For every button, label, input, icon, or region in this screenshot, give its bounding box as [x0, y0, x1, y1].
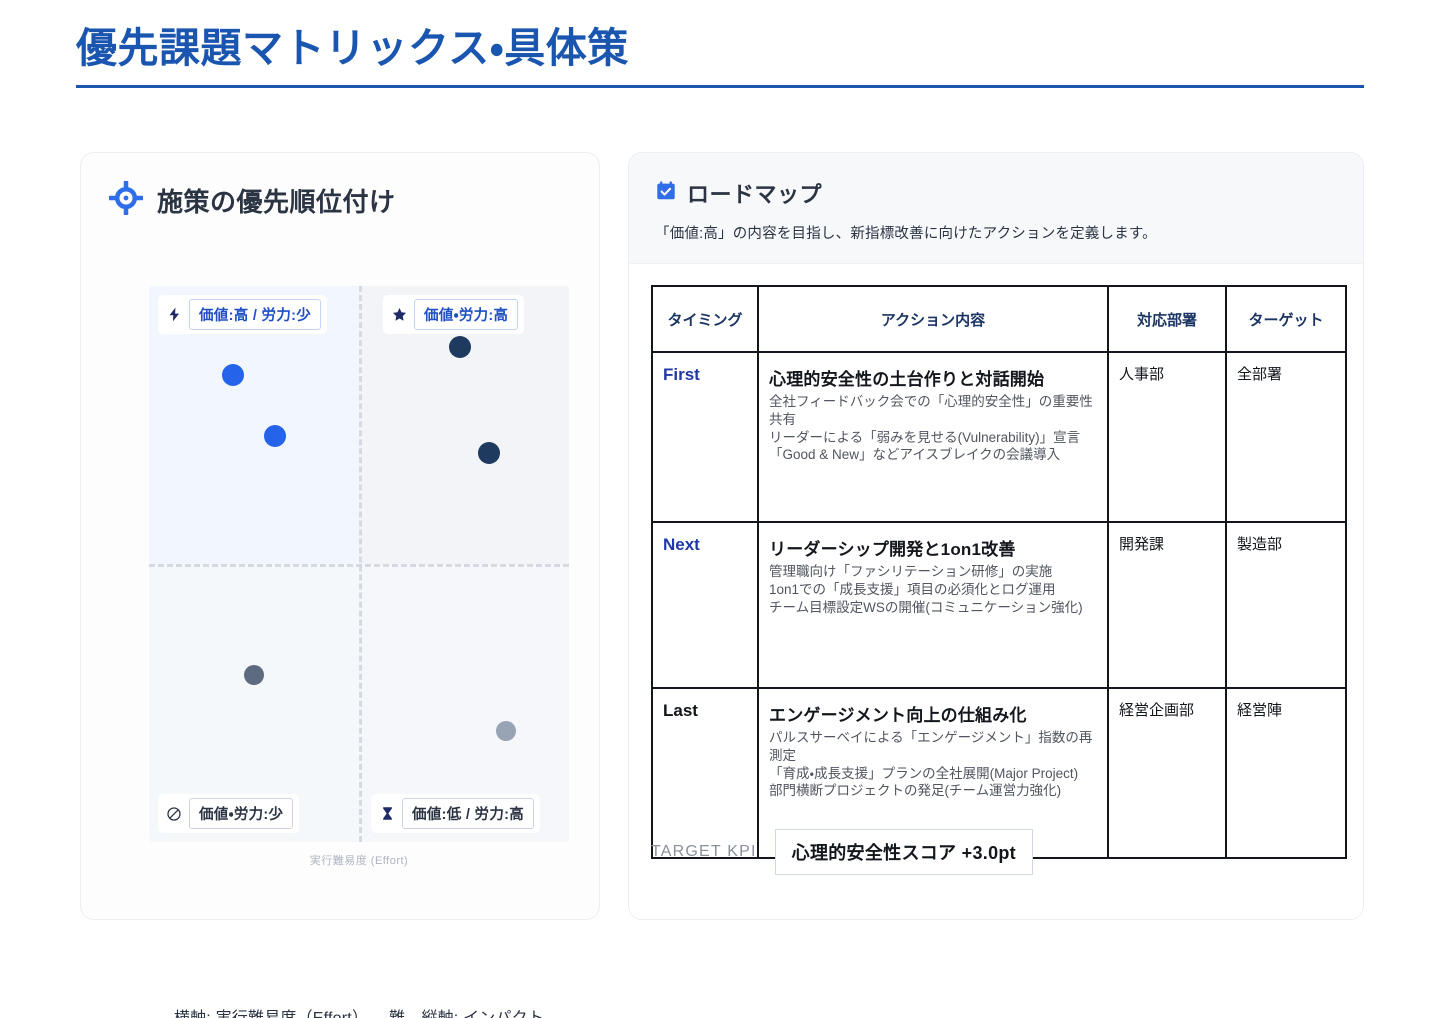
cell-department: 経営企画部: [1108, 688, 1226, 858]
action-item: 管理職向け「ファシリテーション研修」の実施: [769, 563, 1097, 581]
scatter-point: [222, 364, 244, 386]
table-row: First 心理的安全性の土台作りと対話開始 全社フィードバック会での「心理的安…: [652, 352, 1346, 522]
scatter-point: [478, 442, 500, 464]
target-crosshair-icon: [109, 181, 143, 220]
quadrant-label-text: 価値・労力:少: [189, 798, 293, 829]
action-title: 心理的安全性の土台作りと対話開始: [769, 365, 1097, 390]
action-items: パルスサーベイによる「エンゲージメント」指数の再測定 「育成・成長支援」プランの…: [769, 729, 1097, 800]
action-item: 全社フィードバック会での「心理的安全性」の重要性共有: [769, 393, 1097, 429]
table-header-row: タイミング アクション内容 対応部署 ターゲット: [652, 286, 1346, 352]
star-icon: [391, 307, 407, 323]
cell-target: 製造部: [1226, 522, 1346, 688]
roadmap-header: ロードマップ 「価値:高」の内容を目指し、新指標改善に向けたアクションを定義しま…: [629, 153, 1363, 264]
action-items: 管理職向け「ファシリテーション研修」の実施 1on1での「成長支援」項目の必須化…: [769, 563, 1097, 616]
column-header-target: ターゲット: [1226, 286, 1346, 352]
roadmap-subtitle: 「価値:高」の内容を目指し、新指標改善に向けたアクションを定義します。: [655, 222, 1337, 243]
cell-target: 経営陣: [1226, 688, 1346, 858]
action-item: パルスサーベイによる「エンゲージメント」指数の再測定: [769, 729, 1097, 765]
kpi-value-chip: 心理的安全性スコア +3.0pt: [775, 829, 1033, 875]
cell-department: 人事部: [1108, 352, 1226, 522]
column-header-department: 対応部署: [1108, 286, 1226, 352]
horizontal-divider: [149, 564, 569, 567]
scatter-point: [449, 336, 471, 358]
lightning-bolt-icon: [166, 307, 182, 323]
quadrant-label-bottom-right: 価値:低 / 労力:高: [371, 794, 540, 833]
table-row: Next リーダーシップ開発と1on1改善 管理職向け「ファシリテーション研修」…: [652, 522, 1346, 688]
action-item: 1on1での「成長支援」項目の必須化とログ運用: [769, 581, 1097, 599]
quadrant-label-top-left: 価値:高 / 労力:少: [158, 295, 327, 334]
action-item: 「育成・成長支援」プランの全社展開(Major Project): [769, 765, 1097, 783]
quadrant-label-bottom-left: 価値・労力:少: [158, 794, 299, 833]
roadmap-table: タイミング アクション内容 対応部署 ターゲット First 心理的安全性の土台…: [651, 285, 1347, 859]
cell-action: 心理的安全性の土台作りと対話開始 全社フィードバック会での「心理的安全性」の重要…: [758, 352, 1108, 522]
matrix-caption: 横軸: 実行難易度（Effort）→ 難 縦軸: インパクト（Impact）→ …: [149, 1004, 569, 1018]
page-title-block: 優先課題マトリックス・具体策: [76, 24, 1364, 88]
target-kpi-row: TARGET KPI 心理的安全性スコア +3.0pt: [651, 829, 1033, 875]
cell-action: リーダーシップ開発と1on1改善 管理職向け「ファシリテーション研修」の実施 1…: [758, 522, 1108, 688]
priority-matrix-card: 施策の優先順位付け インパクト (Impact) 価値:高 / 労力:少: [80, 152, 600, 920]
cell-timing: Next: [652, 522, 758, 688]
slide-root: 優先課題マトリックス・具体策 施策の優先順位付け インパクト (Impact): [0, 0, 1440, 1018]
action-item: 部門横断プロジェクトの発足(チーム運営力強化): [769, 782, 1097, 800]
kpi-label: TARGET KPI: [651, 843, 757, 861]
page-title: 優先課題マトリックス・具体策: [76, 24, 1364, 85]
roadmap-title: ロードマップ: [687, 177, 822, 209]
column-header-action: アクション内容: [758, 286, 1108, 352]
cell-target: 全部署: [1226, 352, 1346, 522]
x-axis-label: 実行難易度 (Effort): [149, 852, 569, 868]
action-title: リーダーシップ開発と1on1改善: [769, 535, 1097, 560]
quadrant-label-text: 価値:高 / 労力:少: [189, 299, 321, 330]
scatter-point: [264, 425, 286, 447]
action-title: エンゲージメント向上の仕組み化: [769, 701, 1097, 726]
prohibited-icon: [166, 806, 182, 822]
cell-department: 開発課: [1108, 522, 1226, 688]
left-card-title: 施策の優先順位付け: [157, 182, 396, 219]
left-card-header: 施策の優先順位付け: [81, 153, 599, 220]
matrix-chart: インパクト (Impact) 価値:高 / 労力:少: [149, 286, 569, 842]
quadrant-label-text: 価値・労力:高: [414, 299, 518, 330]
column-header-timing: タイミング: [652, 286, 758, 352]
hourglass-icon: [379, 806, 395, 822]
quadrant-label-top-right: 価値・労力:高: [383, 295, 524, 334]
matrix-plot-area: 価値:高 / 労力:少 価値・労力:高 価値・労力:少: [149, 286, 569, 842]
action-item: 「Good & New」などアイスブレイクの会議導入: [769, 446, 1097, 464]
calendar-check-icon: [655, 180, 677, 207]
scatter-point: [496, 721, 516, 741]
title-underline: [76, 85, 1364, 88]
action-item: リーダーによる「弱みを見せる(Vulnerability)」宣言: [769, 429, 1097, 447]
roadmap-card: ロードマップ 「価値:高」の内容を目指し、新指標改善に向けたアクションを定義しま…: [628, 152, 1364, 920]
action-item: チーム目標設定WSの開催(コミュニケーション強化): [769, 599, 1097, 617]
action-items: 全社フィードバック会での「心理的安全性」の重要性共有 リーダーによる「弱みを見せ…: [769, 393, 1097, 464]
quadrant-label-text: 価値:低 / 労力:高: [402, 798, 534, 829]
cell-timing: First: [652, 352, 758, 522]
